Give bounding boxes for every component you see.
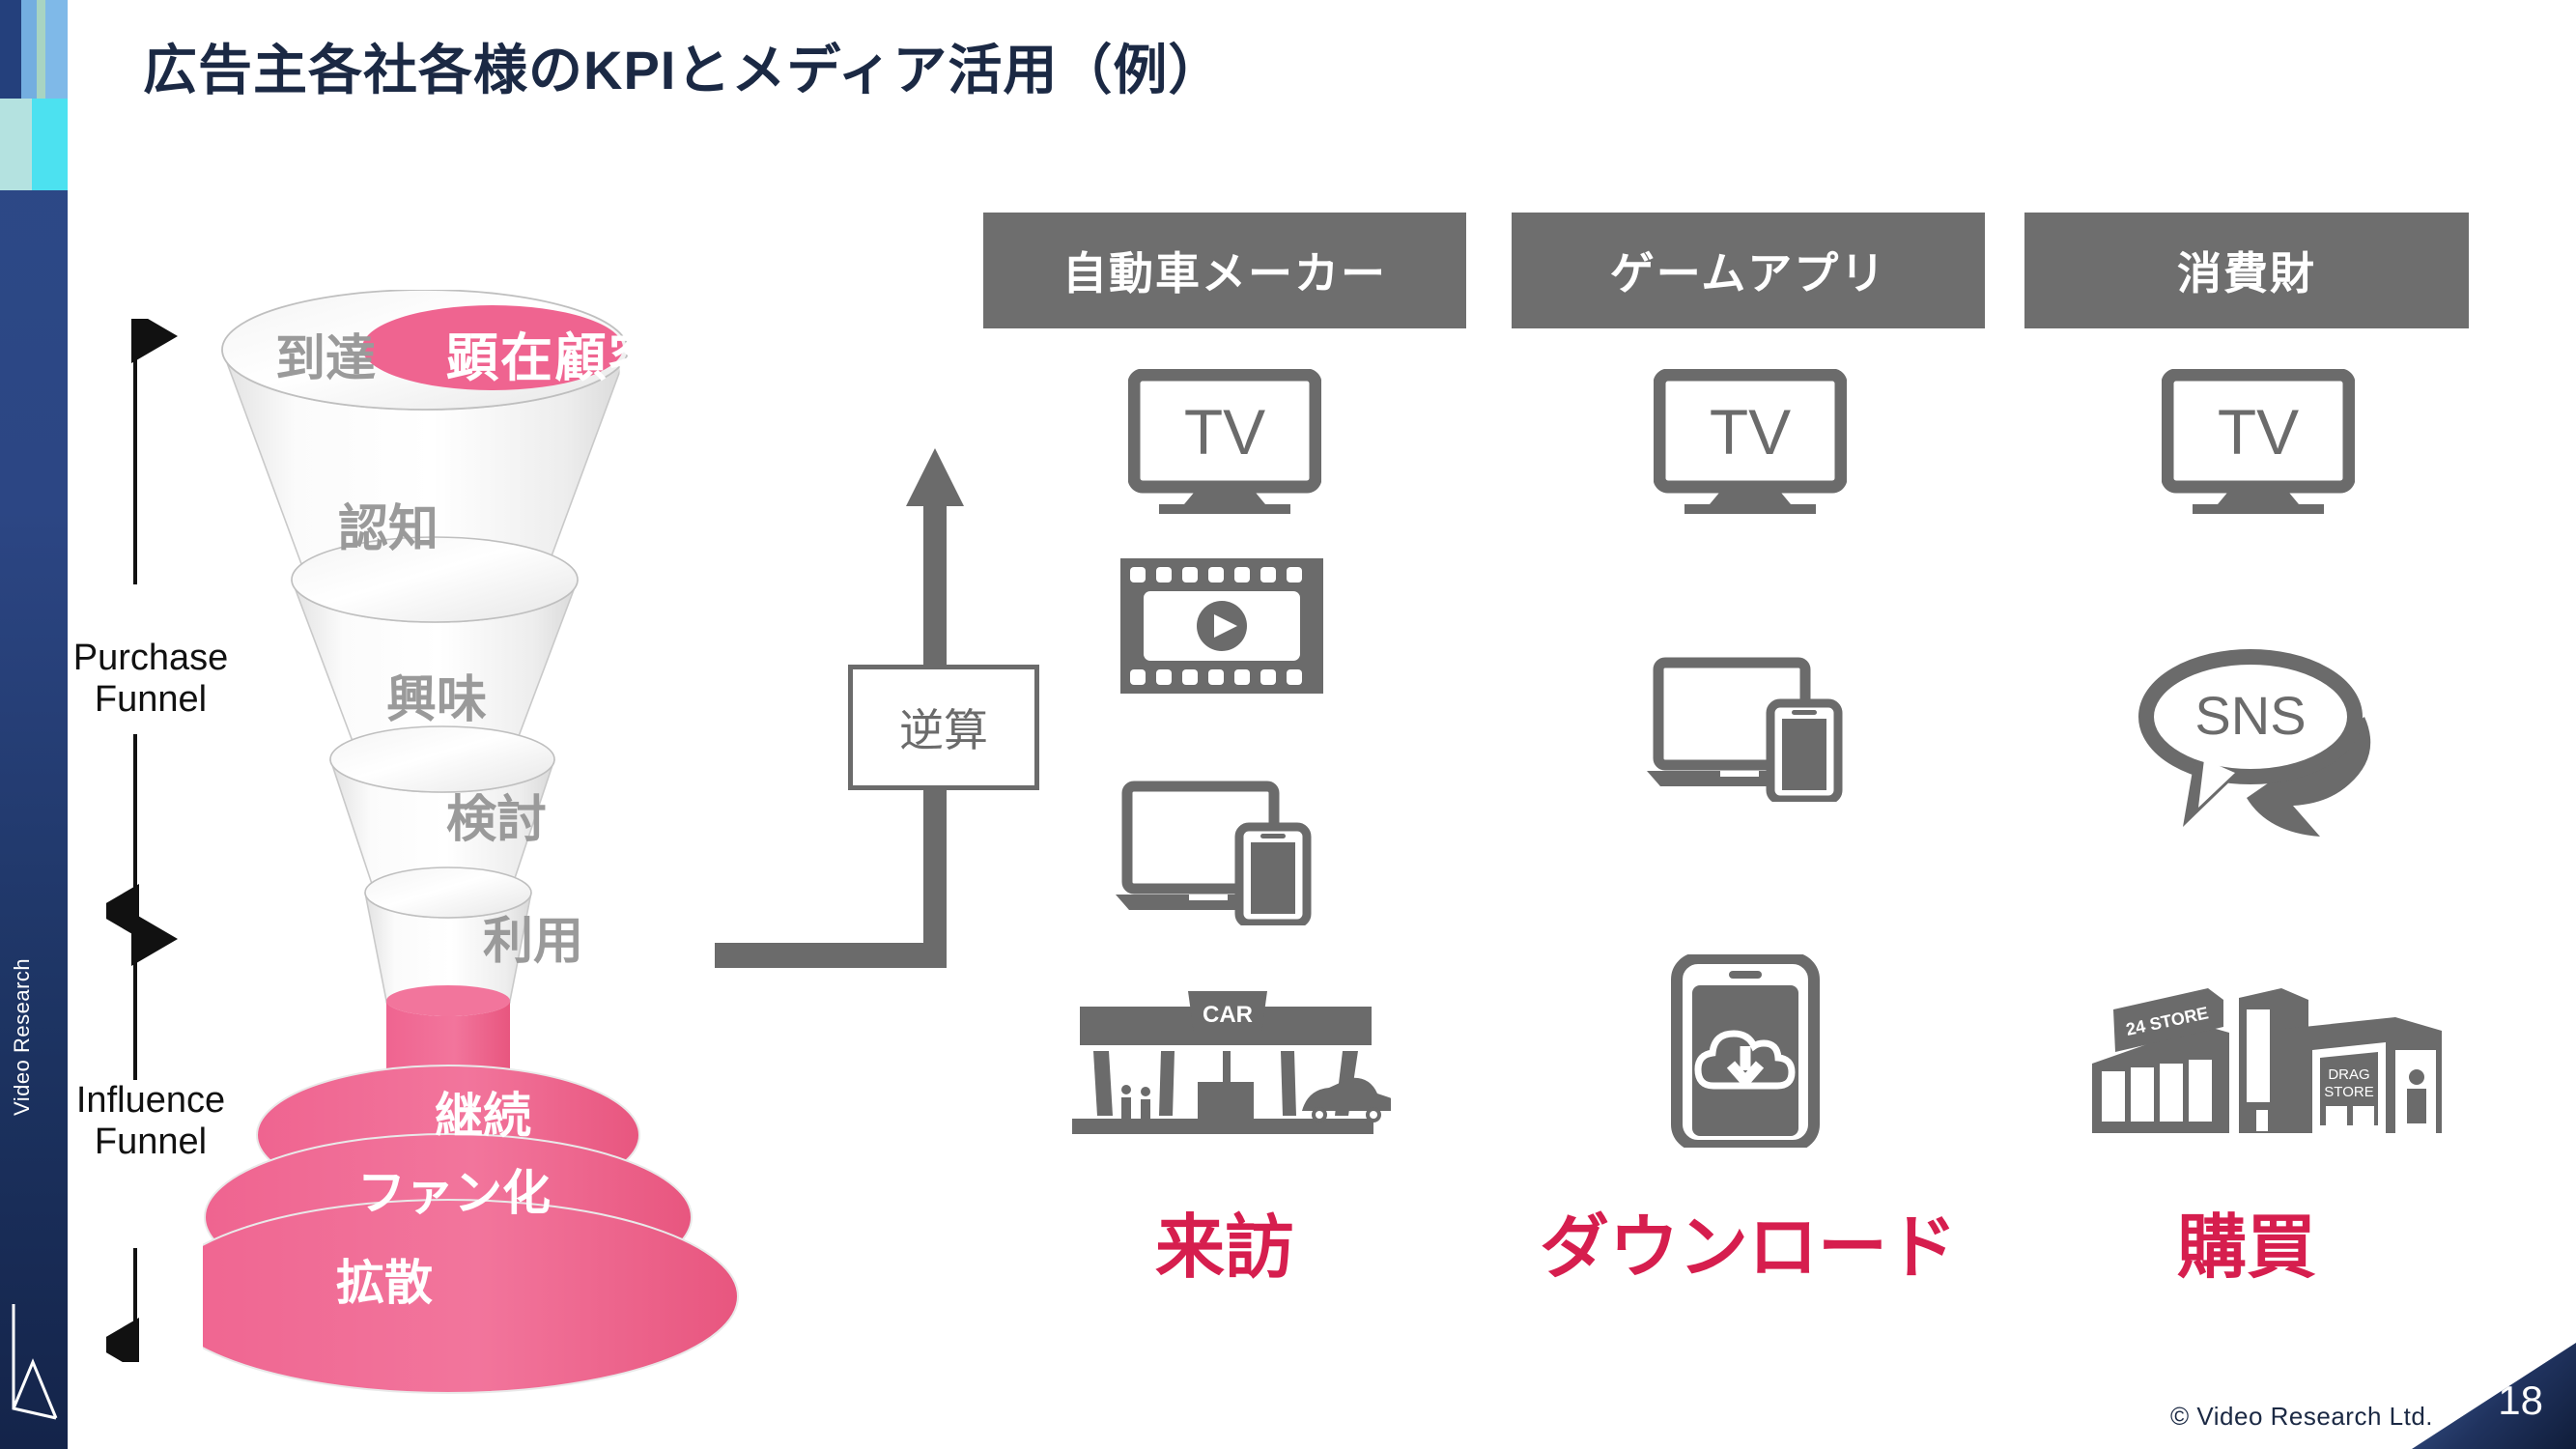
column-header-automotive[interactable]: 自動車メーカー xyxy=(983,213,1466,328)
funnel-brackets xyxy=(106,319,184,1362)
laptop-smartphone-icon xyxy=(1116,781,1328,925)
rail-swatch-3 xyxy=(37,0,45,99)
reverse-calc-label: 逆算 xyxy=(899,696,988,759)
page-number: 18 xyxy=(2498,1378,2543,1424)
funnel-stage-kentou: 検討 xyxy=(446,779,547,851)
tv-icon-text: TV xyxy=(2218,396,2299,468)
retail-stores-icon: 24 STORE DRAG STORE xyxy=(2077,971,2453,1145)
tv-icon: TV xyxy=(1128,369,1321,514)
tv-icon-text: TV xyxy=(1710,396,1791,468)
kpi-label-purchase: 購買 xyxy=(2024,1190,2469,1292)
reverse-calc-box: 逆算 xyxy=(848,665,1039,790)
tv-icon: TV xyxy=(2162,369,2355,514)
sns-icon-text: SNS xyxy=(2194,685,2306,746)
column-header-game-app[interactable]: ゲームアプリ xyxy=(1512,213,1985,328)
car-dealership-icon: CAR xyxy=(1053,966,1391,1140)
funnel-stage-kyomi: 興味 xyxy=(386,659,487,731)
funnel-stage-ninchi: 認知 xyxy=(338,488,439,560)
tv-icon: TV xyxy=(1654,369,1847,514)
rail-swatch-4 xyxy=(45,0,68,99)
film-play-icon xyxy=(1120,558,1323,694)
column-header-label: ゲームアプリ xyxy=(1610,239,1887,302)
funnel-stage-kakusan: 拡散 xyxy=(336,1244,433,1314)
funnel-stage-fanka: ファン化 xyxy=(357,1154,551,1224)
funnel-stage-to-tatsu: 到達 xyxy=(275,318,376,390)
funnel-stage-keizoku: 継続 xyxy=(435,1077,531,1147)
rail-swatch-2 xyxy=(21,0,37,99)
rail-swatch-5 xyxy=(0,99,32,190)
copyright-text: © Video Research Ltd. xyxy=(2170,1402,2433,1432)
rail-swatch-1 xyxy=(0,0,21,99)
kpi-label-visit: 来訪 xyxy=(983,1190,1466,1292)
tv-icon-text: TV xyxy=(1184,396,1265,468)
store-b-sign-line2: STORE xyxy=(2324,1084,2373,1100)
column-header-label: 自動車メーカー xyxy=(1062,239,1387,302)
funnel-stage-riyou: 利用 xyxy=(483,900,583,973)
page-title: 広告主各社各様のKPIとメディア活用（例） xyxy=(143,27,1223,105)
smartphone-cloud-download-icon xyxy=(1654,954,1837,1148)
store-b-sign-line1: DRAG xyxy=(2328,1066,2369,1083)
video-research-logo-icon xyxy=(8,1294,60,1420)
rail-swatch-6 xyxy=(32,99,68,190)
brand-rail: Video Research xyxy=(0,0,68,1449)
laptop-smartphone-icon xyxy=(1647,657,1859,802)
page-number-triangle xyxy=(2412,1343,2576,1449)
funnel-stage-kanyuu: 加入 xyxy=(520,997,616,1066)
funnel-highlight-badge-label: 顕在顧客 xyxy=(446,315,663,391)
dealership-sign-text: CAR xyxy=(1203,1002,1253,1028)
kpi-label-download: ダウンロード xyxy=(1483,1190,2014,1292)
sns-speech-bubble-icon: SNS xyxy=(2115,638,2405,860)
column-header-label: 消費財 xyxy=(2177,239,2316,302)
column-header-consumer-goods[interactable]: 消費財 xyxy=(2024,213,2469,328)
